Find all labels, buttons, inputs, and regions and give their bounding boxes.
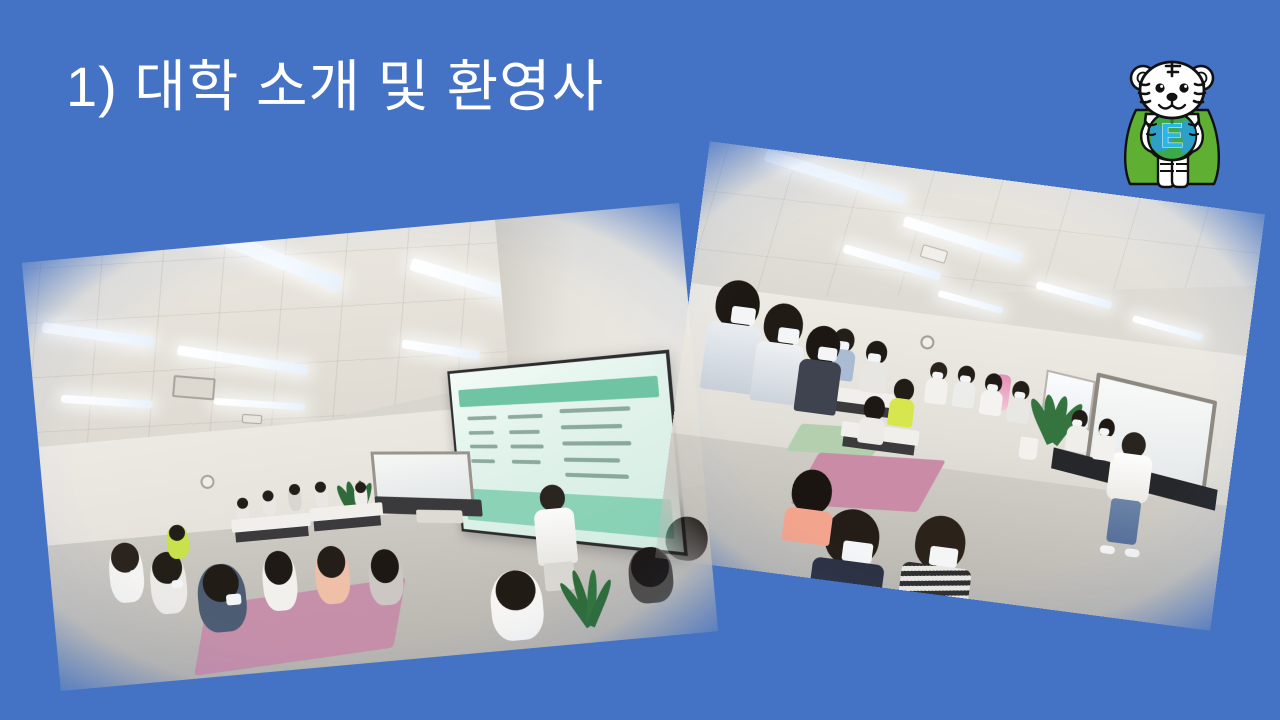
person-body [858, 360, 889, 394]
slide-text-line [566, 473, 630, 479]
person-head [315, 481, 327, 493]
face-mask [129, 569, 141, 578]
slide-text-line [564, 457, 621, 462]
presenter-legs [1106, 498, 1141, 546]
seminar-room-presentation-photo[interactable] [22, 203, 718, 691]
person-head [168, 524, 185, 541]
photo-scene-seminar-room [22, 203, 718, 691]
white-tiger-mascot-logo[interactable]: E [1116, 48, 1228, 198]
slide-text-line [512, 460, 541, 464]
person-head [262, 490, 274, 502]
face-mask [731, 306, 757, 326]
person-head [369, 548, 400, 584]
person-body [896, 561, 972, 624]
tiger-right-eye [1179, 83, 1188, 92]
person-head [236, 497, 248, 509]
person-body [887, 397, 915, 428]
slide-text-line [511, 445, 544, 449]
person-head [288, 484, 300, 496]
projector [241, 414, 262, 424]
wall-mirror [370, 451, 474, 503]
slide-text-line [563, 441, 632, 445]
slide-text-line [469, 430, 495, 434]
potted-plant [539, 531, 625, 630]
face-mask [817, 346, 838, 361]
page-title: 1) 대학 소개 및 환영사 [66, 56, 604, 119]
person-head [494, 569, 537, 612]
person-body [857, 416, 886, 445]
slide-text-line [561, 424, 623, 429]
person-body [979, 389, 1004, 417]
ceiling-lamp [1132, 315, 1204, 341]
slide-text-line [510, 430, 541, 434]
person-body [1006, 397, 1031, 425]
side-table [415, 510, 463, 523]
air-conditioner-vent [172, 375, 216, 400]
person-body [782, 507, 834, 547]
face-mask [171, 579, 183, 588]
person-head [663, 514, 710, 563]
slide-text-line [468, 416, 497, 421]
person-body [1092, 434, 1117, 462]
slide-canvas: 1) 대학 소개 및 환영사 [0, 0, 1280, 720]
photo-scene-audience-rows [655, 141, 1265, 631]
person-body [952, 380, 977, 409]
slide-header-band [458, 376, 659, 408]
person-body [793, 358, 842, 416]
flower-stand-pot [1018, 436, 1039, 460]
person-body [924, 377, 949, 406]
audience-person [896, 512, 979, 624]
person-body [806, 556, 885, 621]
person-head [354, 482, 366, 494]
face-mask [777, 327, 800, 345]
slide-text-line [472, 459, 496, 463]
ceiling-lamp [938, 290, 1005, 315]
face-mask [226, 594, 242, 606]
slide-text-line [508, 414, 543, 419]
person-body [1064, 425, 1089, 454]
tiger-left-eye [1155, 83, 1164, 92]
slide-text-line [560, 407, 632, 414]
slide-text-line [470, 445, 498, 449]
audience-person [782, 467, 839, 547]
audience-seated-rows-photo[interactable] [655, 141, 1265, 631]
